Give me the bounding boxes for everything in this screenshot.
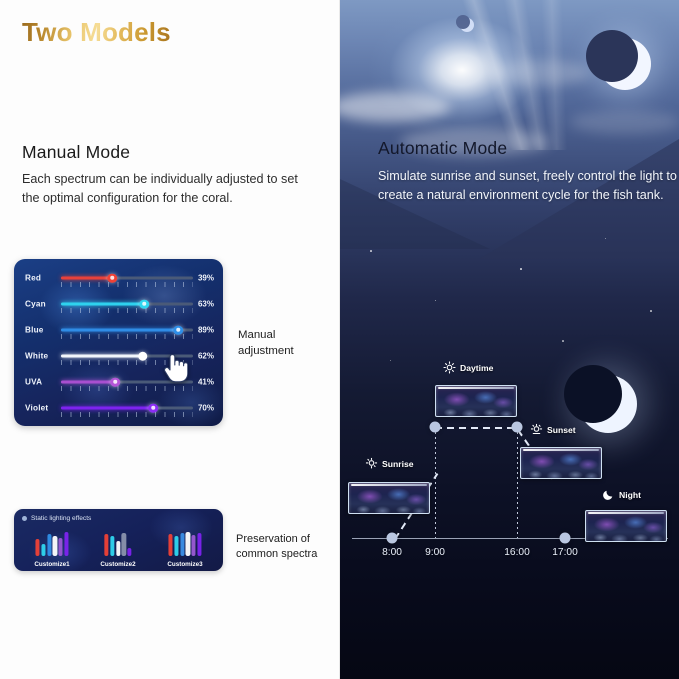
page-title: Two Models bbox=[22, 17, 171, 48]
star bbox=[435, 300, 436, 301]
cloud bbox=[490, 60, 590, 86]
preset-name: Customize3 bbox=[167, 561, 202, 568]
timeline-time-label: 17:00 bbox=[552, 547, 578, 558]
manual-mode-description: Each spectrum can be individually adjust… bbox=[22, 170, 312, 208]
preset-bar bbox=[35, 539, 39, 556]
two-models-page: Two Models Manual Mode Each spectrum can… bbox=[0, 0, 679, 679]
timeline-node-8[interactable] bbox=[387, 533, 398, 544]
crescent-moon-small-icon bbox=[460, 18, 474, 32]
preset-bar bbox=[180, 533, 184, 556]
moon-icon bbox=[602, 488, 615, 501]
slider-fill bbox=[61, 407, 153, 410]
automatic-mode-panel: Automatic Mode Simulate sunrise and suns… bbox=[340, 0, 679, 679]
preset-3[interactable]: Customize3 bbox=[153, 527, 217, 569]
spectrum-slider-card[interactable]: Red39%Cyan63%Blue89%White62%UVA41%Violet… bbox=[14, 259, 223, 426]
slider-track[interactable] bbox=[61, 329, 193, 332]
slider-row-red[interactable]: Red39% bbox=[14, 265, 223, 291]
preset-1[interactable]: Customize1 bbox=[20, 527, 84, 569]
tank-night bbox=[585, 510, 667, 542]
manual-mode-heading: Manual Mode bbox=[22, 142, 130, 163]
star bbox=[562, 340, 564, 342]
preset-bar bbox=[192, 535, 196, 556]
slider-fill bbox=[61, 355, 143, 358]
preset-bar bbox=[127, 548, 131, 556]
slider-ticks bbox=[61, 282, 193, 287]
slider-label: Violet bbox=[25, 404, 48, 413]
stage-name: Night bbox=[619, 490, 641, 500]
preset-bar bbox=[110, 536, 114, 556]
star bbox=[370, 250, 372, 252]
slider-label: Cyan bbox=[25, 300, 46, 309]
preset-bar bbox=[53, 536, 57, 556]
stage-label-daytime: Daytime bbox=[443, 361, 493, 374]
slider-row-cyan[interactable]: Cyan63% bbox=[14, 291, 223, 317]
stage-name: Sunrise bbox=[382, 459, 414, 469]
slider-label: UVA bbox=[25, 378, 42, 387]
preset-bar bbox=[104, 534, 108, 556]
stage-label-night: Night bbox=[602, 488, 641, 501]
slider-ticks bbox=[61, 386, 193, 391]
slider-ticks bbox=[61, 308, 193, 313]
preset-card-header: Static lighting effects bbox=[22, 515, 91, 522]
manual-adjustment-caption: Manual adjustment bbox=[238, 327, 334, 359]
automatic-mode-heading: Automatic Mode bbox=[378, 138, 507, 159]
slider-ticks bbox=[61, 334, 193, 339]
preset-name: Customize2 bbox=[100, 561, 135, 568]
slider-percent: 63% bbox=[198, 300, 214, 309]
preset-2[interactable]: Customize2 bbox=[86, 527, 150, 569]
timeline-node-9[interactable] bbox=[430, 422, 441, 433]
slider-percent: 70% bbox=[198, 404, 214, 413]
preset-bar bbox=[122, 533, 126, 556]
sunrise-icon bbox=[365, 457, 378, 470]
timeline-time-label: 16:00 bbox=[504, 547, 530, 558]
slider-fill bbox=[61, 381, 115, 384]
slider-ticks bbox=[61, 412, 193, 417]
preset-bar bbox=[41, 544, 45, 556]
preset-header-label: Static lighting effects bbox=[31, 515, 91, 522]
slider-label: Red bbox=[25, 274, 41, 283]
tank-sunset bbox=[520, 447, 602, 479]
timeline-guide-9 bbox=[435, 427, 436, 538]
slider-percent: 41% bbox=[198, 378, 214, 387]
slider-label: Blue bbox=[25, 326, 44, 335]
slider-fill bbox=[61, 277, 112, 280]
star bbox=[520, 268, 522, 270]
slider-fill bbox=[61, 329, 178, 332]
dot-icon bbox=[22, 516, 27, 521]
lighting-timeline: Sunrise Daytime bbox=[340, 355, 679, 575]
static-lighting-effects-card[interactable]: Static lighting effects Customize1Custom… bbox=[14, 509, 223, 571]
slider-percent: 89% bbox=[198, 326, 214, 335]
preset-bar bbox=[174, 536, 178, 556]
preset-bars bbox=[35, 529, 68, 556]
hand-pointer-icon bbox=[160, 350, 188, 384]
cloud bbox=[570, 110, 679, 134]
slider-row-blue[interactable]: Blue89% bbox=[14, 317, 223, 343]
slider-track[interactable] bbox=[61, 303, 193, 306]
slider-row-uva[interactable]: UVA41% bbox=[14, 369, 223, 395]
timeline-time-label: 8:00 bbox=[382, 547, 402, 558]
cloud bbox=[340, 92, 450, 122]
slider-label: White bbox=[25, 352, 48, 361]
slider-track[interactable] bbox=[61, 407, 193, 410]
stage-label-sunset: Sunset bbox=[530, 423, 576, 436]
sunset-icon bbox=[530, 423, 543, 436]
preservation-caption: Preservation of common spectra bbox=[236, 532, 340, 563]
stage-name: Daytime bbox=[460, 363, 493, 373]
timeline-node-17[interactable] bbox=[560, 533, 571, 544]
timeline-guide-16 bbox=[517, 427, 518, 538]
timeline-node-16[interactable] bbox=[512, 422, 523, 433]
sun-icon bbox=[443, 361, 456, 374]
slider-percent: 62% bbox=[198, 352, 214, 361]
preset-bar bbox=[186, 532, 190, 556]
preset-bar bbox=[64, 532, 68, 556]
slider-row-white[interactable]: White62% bbox=[14, 343, 223, 369]
preset-name: Customize1 bbox=[34, 561, 69, 568]
slider-percent: 39% bbox=[198, 274, 214, 283]
preset-bar bbox=[168, 534, 172, 556]
tank-sunrise bbox=[348, 482, 430, 514]
stage-label-sunrise: Sunrise bbox=[365, 457, 414, 470]
tank-daytime bbox=[435, 385, 517, 417]
slider-track[interactable] bbox=[61, 277, 193, 280]
preset-bar bbox=[197, 533, 201, 556]
preset-bars bbox=[104, 529, 131, 556]
preset-bars bbox=[168, 529, 201, 556]
stage-name: Sunset bbox=[547, 425, 576, 435]
preset-bar bbox=[59, 538, 63, 556]
slider-fill bbox=[61, 303, 144, 306]
preset-bar bbox=[47, 534, 51, 556]
preset-bar bbox=[116, 541, 120, 556]
timeline-time-label: 9:00 bbox=[425, 547, 445, 558]
crescent-moon-icon bbox=[599, 38, 651, 90]
star bbox=[650, 310, 652, 312]
manual-mode-panel: Two Models Manual Mode Each spectrum can… bbox=[0, 0, 340, 679]
slider-row-violet[interactable]: Violet70% bbox=[14, 395, 223, 421]
timeline-segment-daytime bbox=[435, 427, 517, 429]
automatic-mode-description: Simulate sunrise and sunset, freely cont… bbox=[378, 167, 678, 205]
